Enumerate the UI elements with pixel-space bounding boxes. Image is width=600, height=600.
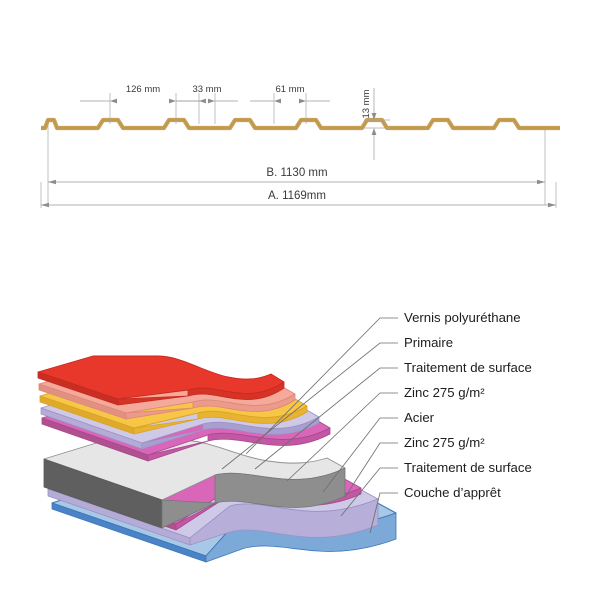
dimension-label-valley: 61 mm xyxy=(275,84,304,95)
arrow-down-13 xyxy=(372,128,377,135)
corrugated-profile-shape xyxy=(41,120,560,128)
layer-label-8: Couche d’apprêt xyxy=(404,485,501,500)
layer-label-7: Traitement de surface xyxy=(404,460,532,475)
layer-labels: Vernis polyuréthane Primaire Traitement … xyxy=(404,310,532,500)
dimension-label-total-width: A. 1169mm xyxy=(268,190,326,202)
dimension-label-cover-width: B. 1130 mm xyxy=(266,167,327,179)
layer-label-4: Zinc 275 g/m² xyxy=(404,385,485,400)
dimension-label-ribtop: 33 mm xyxy=(192,84,221,95)
arrow-right-126 xyxy=(169,99,176,104)
arrow-right-A xyxy=(548,203,556,207)
arrow-right-61 xyxy=(299,99,306,104)
arrow-left-B xyxy=(48,180,56,184)
layer-label-1: Vernis polyuréthane xyxy=(404,310,521,325)
arrow-left-61 xyxy=(274,99,281,104)
dimension-cover-width-B: B. 1130 mm xyxy=(48,167,545,184)
dimension-ribtop-33: 33 mm xyxy=(176,84,238,124)
technical-drawing: 126 mm 33 mm 61 mm xyxy=(0,0,600,600)
figure-root: 126 mm 33 mm 61 mm xyxy=(0,0,600,600)
layer-label-2: Primaire xyxy=(404,335,453,350)
profile-drawing: 126 mm 33 mm 61 mm xyxy=(41,84,560,208)
arrow-right-33 xyxy=(208,99,215,104)
layer-label-5: Acier xyxy=(404,410,435,425)
dimension-label-ribheight: 13 mm xyxy=(361,89,372,118)
layer-label-6: Zinc 275 g/m² xyxy=(404,435,485,450)
layer-stack-diagram xyxy=(38,356,396,562)
dimension-label-pitch: 126 mm xyxy=(126,84,160,95)
layer-label-3: Traitement de surface xyxy=(404,360,532,375)
arrow-right-B xyxy=(537,180,545,184)
arrow-left-33 xyxy=(199,99,206,104)
dimension-total-width-A: A. 1169mm xyxy=(41,182,556,208)
dimension-pitch-126: 126 mm xyxy=(80,84,206,124)
arrow-left-126 xyxy=(110,99,117,104)
dimension-valley-61: 61 mm xyxy=(250,84,330,124)
arrow-left-A xyxy=(41,203,49,207)
